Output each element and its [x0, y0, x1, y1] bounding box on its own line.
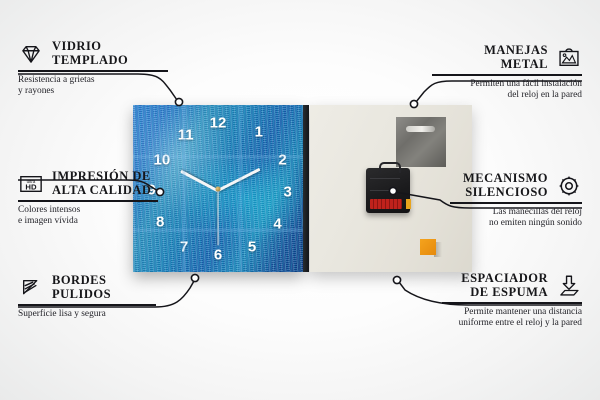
clock-numeral-10: 10 [154, 153, 171, 168]
feature-desc-line1: Permite mantener una distancia [442, 307, 582, 318]
diamond-icon [18, 41, 44, 67]
feature-desc-line2: no emiten ningún sonido [450, 218, 582, 229]
feature-vidrio-templado: VIDRIO TEMPLADO Resistencia a grietas y … [18, 40, 168, 97]
feature-desc-line1: Permiten una fácil instalación [432, 79, 582, 90]
clock-hour-hand [180, 169, 219, 192]
ultra-hd-icon-main: HD [25, 182, 37, 191]
clock-battery [370, 199, 402, 209]
feature-underline [450, 202, 582, 204]
clock-numeral-4: 4 [273, 216, 281, 231]
clock-side-edge [303, 105, 309, 272]
movement-seam [370, 190, 392, 191]
clock-face: 12 1 2 3 4 5 6 7 8 9 10 11 [133, 105, 303, 272]
feature-desc-line2: uniforme entre el reloj y la pared [442, 318, 582, 329]
feature-title-line1: VIDRIO [52, 40, 128, 54]
movement-seam [370, 178, 400, 179]
feature-underline [18, 304, 156, 306]
picture-hanger-icon [556, 45, 582, 71]
battery-terminal [406, 199, 411, 209]
clock-numeral-2: 2 [278, 153, 286, 168]
infographic-canvas: 12 1 2 3 4 5 6 7 8 9 10 11 [0, 0, 600, 400]
gear-icon [556, 173, 582, 199]
feature-title-line2: SILENCIOSO [463, 186, 548, 200]
feature-title-line2: PULIDOS [52, 288, 111, 302]
clock-numeral-5: 5 [248, 239, 256, 254]
feature-title-line1: ESPACIADOR [461, 272, 548, 286]
feature-heading: ESPACIADOR DE ESPUMA [442, 272, 582, 299]
feature-heading: VIDRIO TEMPLADO [18, 40, 168, 67]
hanger-slot [406, 126, 435, 132]
feature-mecanismo-silencioso: MECANISMO SILENCIOSO Las manecillas del … [450, 172, 582, 229]
feature-underline [18, 70, 168, 72]
feature-underline [432, 74, 582, 76]
clock-numeral-7: 7 [180, 239, 188, 254]
feature-title-line1: MECANISMO [463, 172, 548, 186]
feature-desc-line1: Las manecillas del reloj [450, 207, 582, 218]
feature-espaciador-espuma: ESPACIADOR DE ESPUMA Permite mantener un… [442, 272, 582, 329]
feature-title-line2: METAL [484, 58, 548, 72]
clock-numeral-11: 11 [178, 128, 194, 143]
clock-numeral-1: 1 [255, 124, 263, 139]
connector-dot-bordes [191, 274, 198, 281]
metal-hanger-plate [396, 117, 446, 167]
feature-heading: MECANISMO SILENCIOSO [450, 172, 582, 199]
feature-desc-line1: Resistencia a grietas [18, 75, 168, 86]
clock-back-panel [310, 105, 472, 272]
foam-spacer [420, 239, 436, 255]
feature-impresion-alta-calidad: ultra HD IMPRESIÓN DE ALTA CALIDAD Color… [18, 170, 158, 227]
feature-bordes-pulidos: BORDES PULIDOS Superficie lisa y segura [18, 274, 156, 320]
quartz-movement [366, 168, 410, 213]
feature-title-line1: MANEJAS [484, 44, 548, 58]
feature-title-line2: TEMPLADO [52, 54, 128, 68]
feature-desc-line2: y rayones [18, 86, 168, 97]
feature-title-line2: ALTA CALIDAD [52, 184, 151, 198]
movement-hanger-loop [379, 162, 401, 173]
feature-desc-line2: del reloj en la pared [432, 90, 582, 101]
feature-manejas-metal: MANEJAS METAL Permiten una fácil instala… [432, 44, 582, 101]
product-photo: 12 1 2 3 4 5 6 7 8 9 10 11 [133, 105, 472, 272]
connector-dot-espaciador [393, 276, 400, 283]
feature-title-line2: DE ESPUMA [461, 286, 548, 300]
polished-edges-icon [18, 275, 44, 301]
feature-title-line1: BORDES [52, 274, 111, 288]
clock-second-hand [217, 189, 218, 245]
clock-center-hub [216, 186, 221, 191]
feature-heading: MANEJAS METAL [432, 44, 582, 71]
foam-spacer-icon [556, 273, 582, 299]
feature-desc-line1: Superficie lisa y segura [18, 309, 156, 320]
ultra-hd-icon: ultra HD [18, 171, 44, 197]
feature-heading: BORDES PULIDOS [18, 274, 156, 301]
feature-underline [442, 302, 582, 304]
feature-desc-line2: e imagen vívida [18, 216, 158, 227]
clock-numeral-3: 3 [284, 184, 292, 199]
feature-underline [18, 200, 158, 202]
feature-title-line1: IMPRESIÓN DE [52, 170, 151, 184]
feature-desc-line1: Colores intensos [18, 205, 158, 216]
clock-numeral-12: 12 [210, 116, 227, 131]
clock-numeral-6: 6 [214, 248, 222, 263]
clock-minute-hand [217, 167, 260, 191]
feature-heading: ultra HD IMPRESIÓN DE ALTA CALIDAD [18, 170, 158, 197]
